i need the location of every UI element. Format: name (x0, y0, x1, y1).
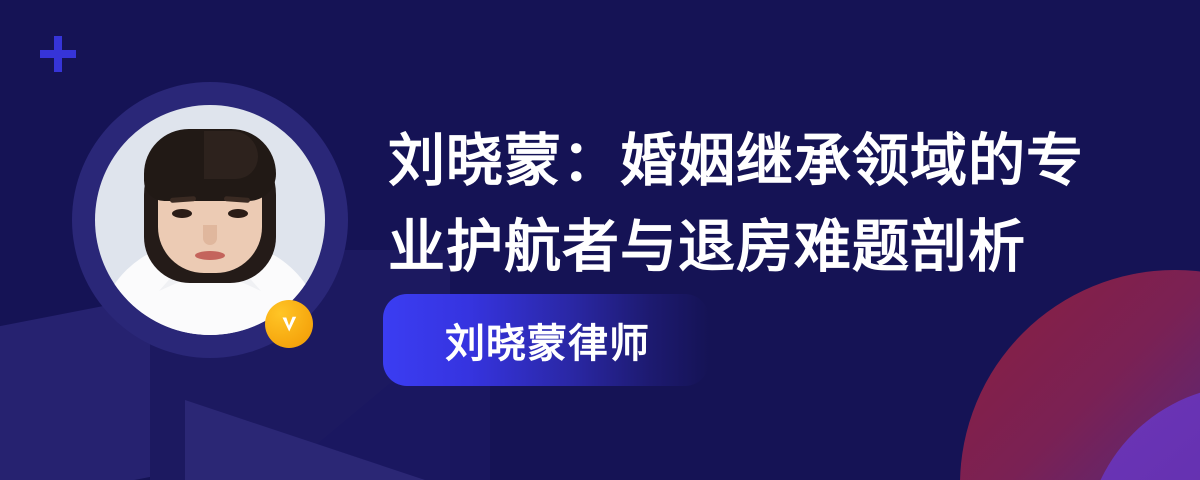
plus-icon (40, 36, 76, 72)
lawyer-name-label: 刘晓蒙律师 (445, 311, 650, 369)
avatar (72, 82, 348, 358)
lawyer-name-badge: 刘晓蒙律师 (383, 294, 709, 386)
page-title: 刘晓蒙：婚姻继承领域的专业护航者与退房难题剖析 (388, 118, 1088, 290)
verified-check-icon (265, 300, 313, 348)
promo-banner: 刘晓蒙律师 刘晓蒙：婚姻继承领域的专业护航者与退房难题剖析 (0, 0, 1200, 480)
